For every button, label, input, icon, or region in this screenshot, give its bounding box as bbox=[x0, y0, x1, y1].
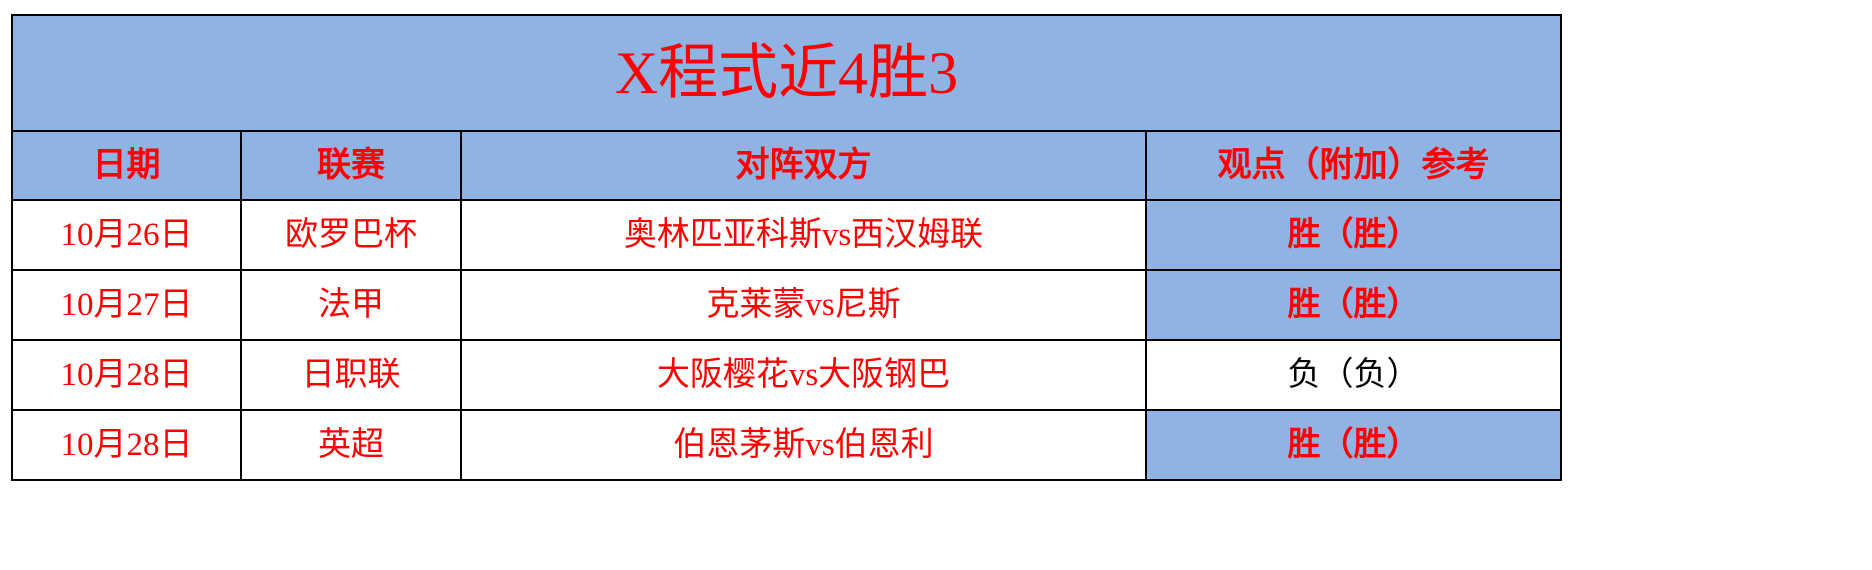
cell-matchup: 克莱蒙vs尼斯 bbox=[461, 270, 1146, 340]
cell-league: 日职联 bbox=[241, 340, 461, 410]
column-header-date: 日期 bbox=[12, 131, 241, 200]
table-title-row: X程式近4胜3 bbox=[12, 15, 1561, 131]
table-row: 10月28日 英超 伯恩茅斯vs伯恩利 胜（胜） bbox=[12, 410, 1561, 480]
table-header-row: 日期 联赛 对阵双方 观点（附加）参考 bbox=[12, 131, 1561, 200]
cell-matchup: 大阪樱花vs大阪钢巴 bbox=[461, 340, 1146, 410]
prediction-table: X程式近4胜3 日期 联赛 对阵双方 观点（附加）参考 10月26日 欧罗巴杯 … bbox=[11, 14, 1562, 481]
spreadsheet-canvas: X程式近4胜3 日期 联赛 对阵双方 观点（附加）参考 10月26日 欧罗巴杯 … bbox=[0, 0, 1872, 570]
cell-date: 10月26日 bbox=[12, 200, 241, 270]
column-header-league: 联赛 bbox=[241, 131, 461, 200]
cell-date: 10月27日 bbox=[12, 270, 241, 340]
cell-date: 10月28日 bbox=[12, 340, 241, 410]
cell-league: 英超 bbox=[241, 410, 461, 480]
table-row: 10月28日 日职联 大阪樱花vs大阪钢巴 负（负） bbox=[12, 340, 1561, 410]
table-row: 10月26日 欧罗巴杯 奥林匹亚科斯vs西汉姆联 胜（胜） bbox=[12, 200, 1561, 270]
cell-opinion: 胜（胜） bbox=[1146, 270, 1561, 340]
cell-league: 欧罗巴杯 bbox=[241, 200, 461, 270]
cell-league: 法甲 bbox=[241, 270, 461, 340]
cell-opinion: 负（负） bbox=[1146, 340, 1561, 410]
table-title: X程式近4胜3 bbox=[12, 15, 1561, 131]
column-header-opinion: 观点（附加）参考 bbox=[1146, 131, 1561, 200]
cell-matchup: 伯恩茅斯vs伯恩利 bbox=[461, 410, 1146, 480]
cell-matchup: 奥林匹亚科斯vs西汉姆联 bbox=[461, 200, 1146, 270]
column-header-matchup: 对阵双方 bbox=[461, 131, 1146, 200]
cell-opinion: 胜（胜） bbox=[1146, 200, 1561, 270]
table-row: 10月27日 法甲 克莱蒙vs尼斯 胜（胜） bbox=[12, 270, 1561, 340]
cell-date: 10月28日 bbox=[12, 410, 241, 480]
cell-opinion: 胜（胜） bbox=[1146, 410, 1561, 480]
